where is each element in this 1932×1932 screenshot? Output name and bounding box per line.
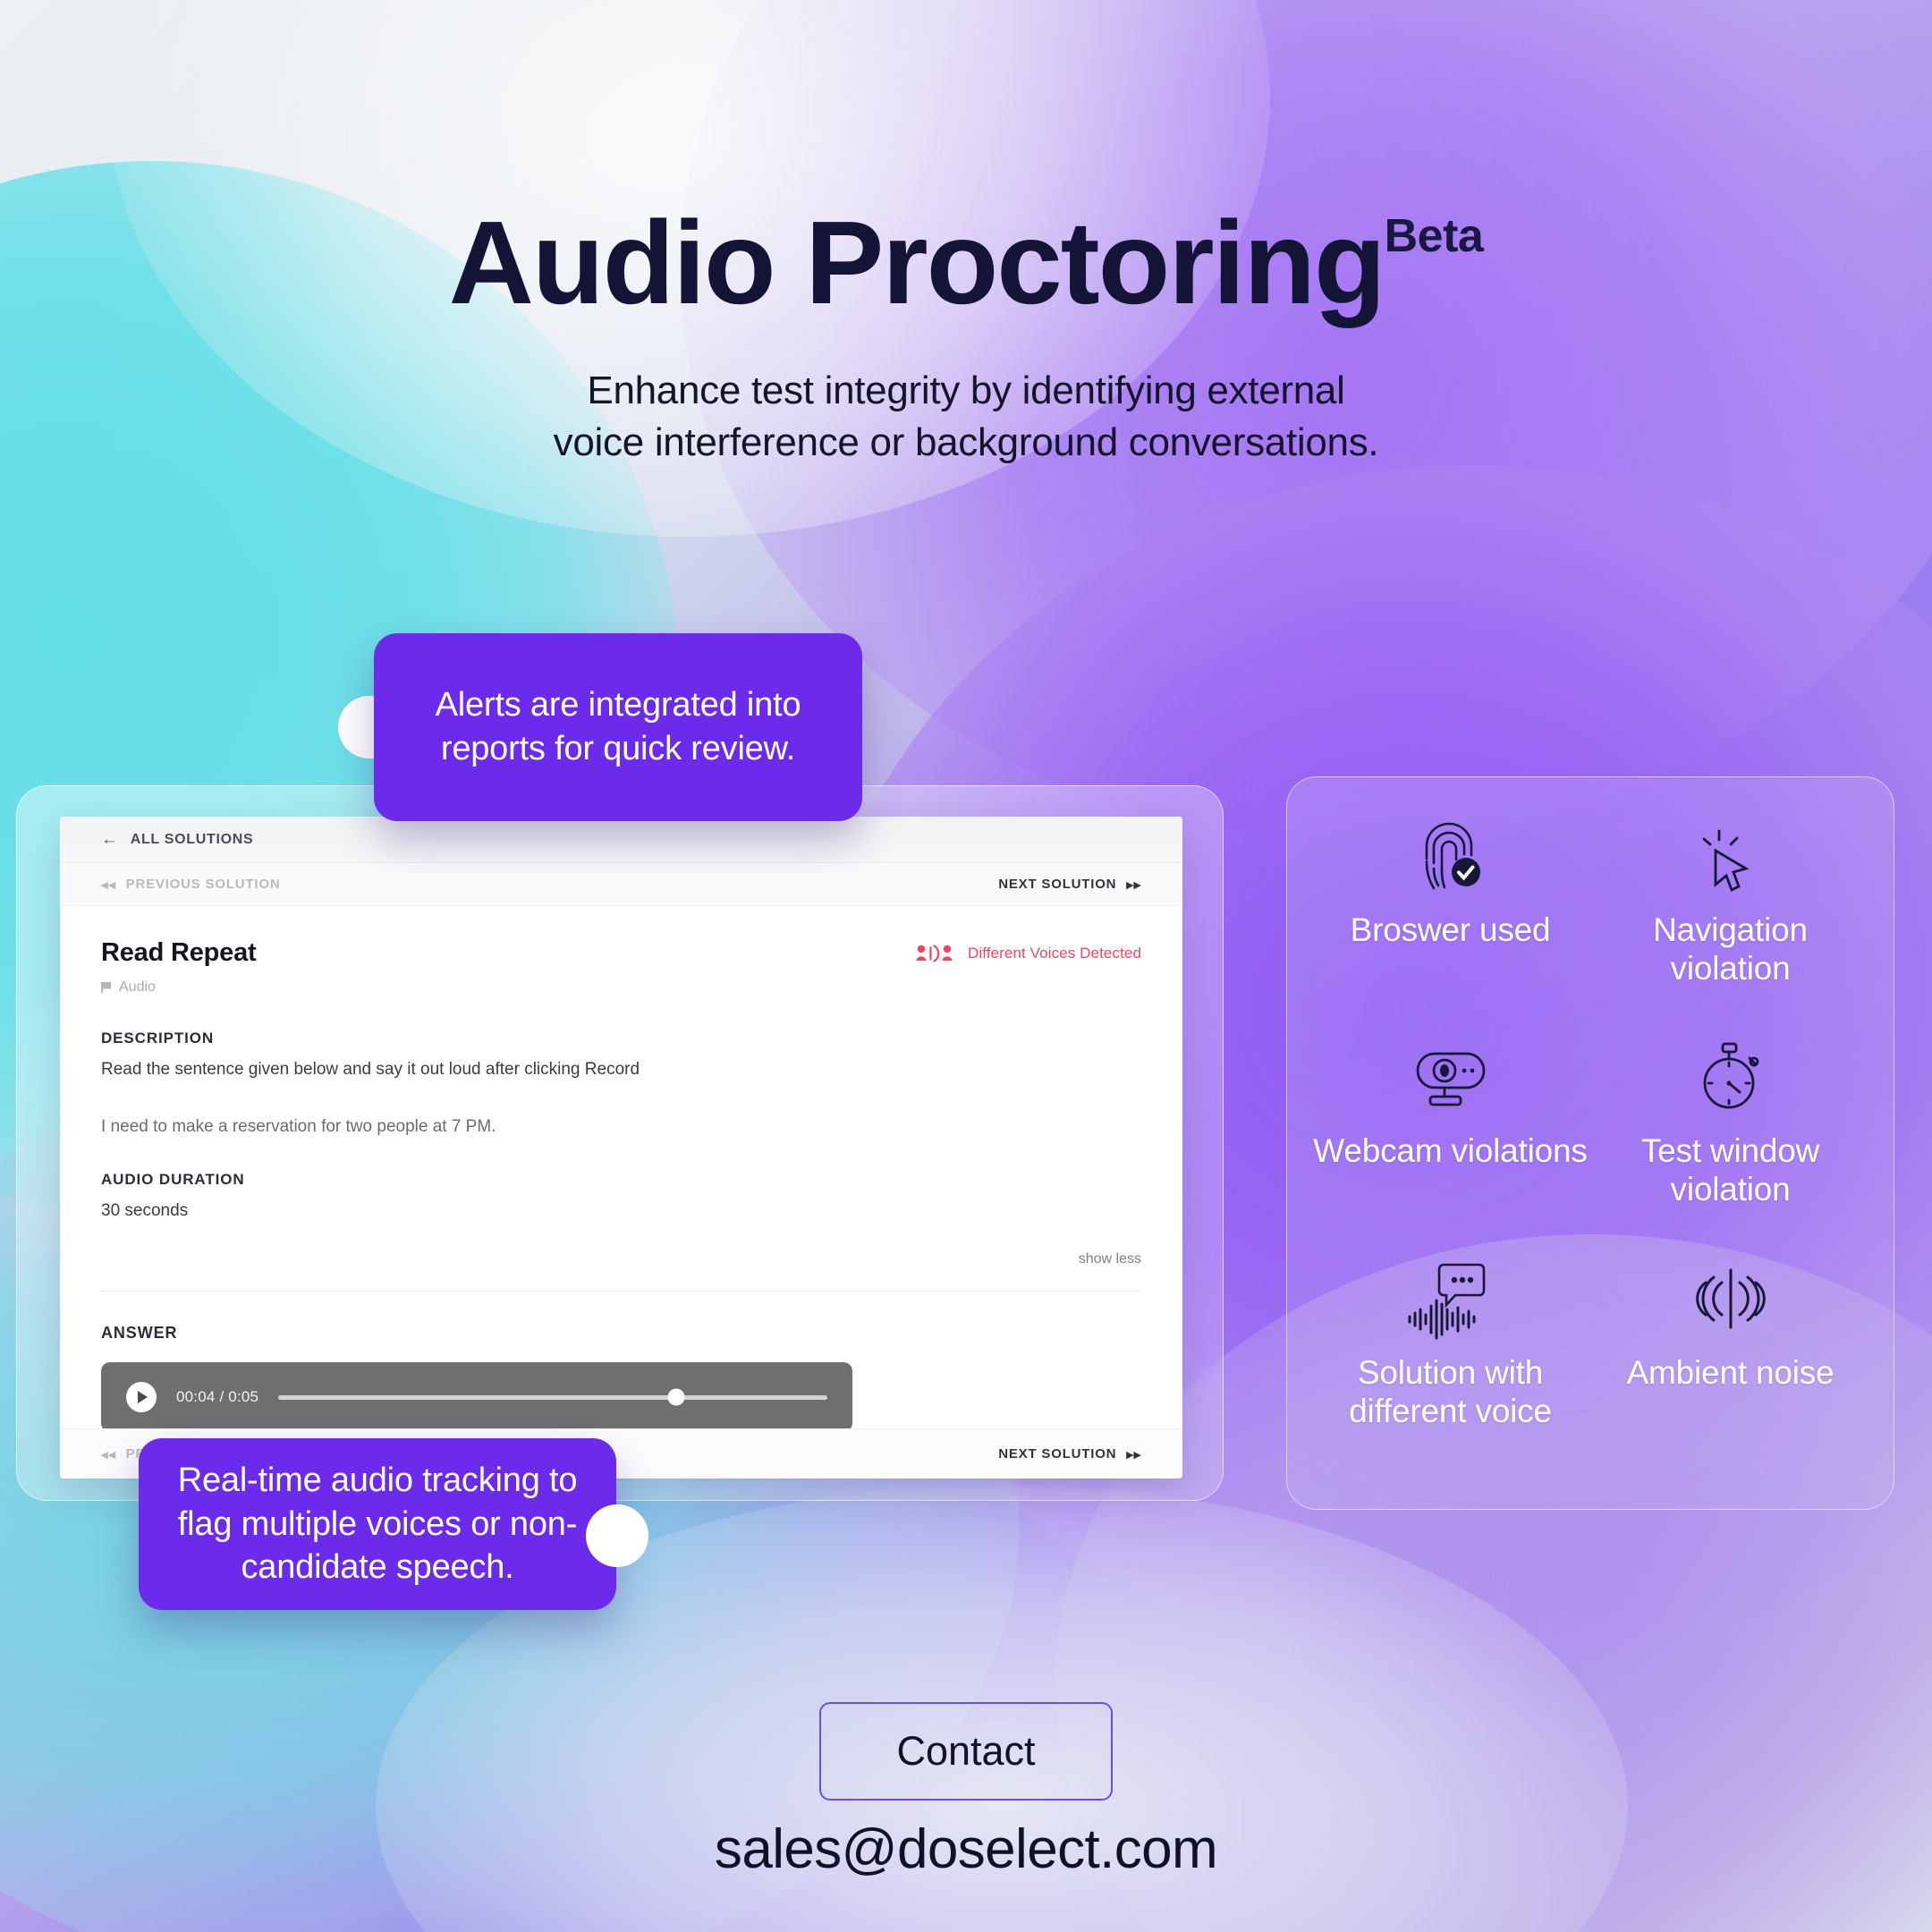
double-left-chevron-icon: ◂◂ [101,1446,116,1462]
violation-label: Navigation violation [1590,911,1870,988]
breadcrumb-label: ALL SOLUTIONS [131,832,254,848]
page-subtitle: Enhance test integrity by identifying ex… [0,365,1932,469]
speech-waveform-icon [1404,1256,1497,1342]
description-text: Read the sentence given below and say it… [101,1060,1141,1080]
violation-label: Broswer used [1351,911,1551,950]
header: Audio Proctoring Beta Enhance test integ… [0,204,1932,469]
previous-solution-button[interactable]: ◂◂ PREVIOUS SOLUTION [101,877,280,893]
cursor-click-icon [1692,813,1769,899]
contact-button[interactable]: Contact [819,1702,1113,1801]
app-topbar: ← ALL SOLUTIONS [60,817,1182,863]
question-tag: Audio [101,979,256,996]
play-button[interactable] [126,1382,157,1412]
violation-item-test-window: Test window violation [1590,1034,1870,1255]
footer-next-solution-label: NEXT SOLUTION [998,1446,1116,1462]
sound-waves-icon [1692,1256,1769,1342]
play-icon [138,1391,148,1403]
player-knob[interactable] [668,1389,685,1406]
double-left-chevron-icon: ◂◂ [101,877,116,893]
app-screenshot: ← ALL SOLUTIONS ◂◂ PREVIOUS SOLUTION NEX… [60,817,1182,1479]
callout-bottom: Real-time audio tracking to flag multipl… [139,1438,616,1610]
flag-icon [101,982,111,993]
question-header-row: Read Repeat Audio [101,938,1141,996]
breadcrumb[interactable]: ← ALL SOLUTIONS [101,831,253,848]
subtitle-line-1: Enhance test integrity by identifying ex… [0,365,1932,417]
violation-item-different-voice: Solution with different voice [1310,1256,1590,1477]
callout-bottom-dot [586,1504,648,1567]
audio-duration-value: 30 seconds [101,1201,1141,1221]
audio-player[interactable]: 00:04 / 0:05 [101,1362,852,1432]
title-row: Audio Proctoring Beta [449,204,1484,322]
violation-item-browser-used: Broswer used [1310,813,1590,1034]
status-badge: Different Voices Detected [916,944,1141,963]
poster-canvas: Audio Proctoring Beta Enhance test integ… [0,0,1932,1932]
description-label: DESCRIPTION [101,1030,1141,1047]
question-meta: Read Repeat Audio [101,938,256,996]
callout-bottom-text: Real-time audio tracking to flag multipl… [139,1439,616,1609]
previous-solution-label: PREVIOUS SOLUTION [126,877,281,892]
back-arrow-icon: ← [101,831,119,848]
sentence-text: I need to make a reservation for two peo… [101,1117,1141,1137]
violation-label: Solution with different voice [1310,1354,1590,1431]
different-voices-icon [916,944,955,963]
violation-item-ambient-noise: Ambient noise [1590,1256,1870,1477]
violation-label: Test window violation [1590,1132,1870,1209]
stopwatch-icon [1693,1034,1768,1120]
subtitle-line-2: voice interference or background convers… [0,417,1932,469]
app-solution-nav: ◂◂ PREVIOUS SOLUTION NEXT SOLUTION ▸▸ [60,863,1182,906]
violation-label: Webcam violations [1313,1132,1587,1171]
violation-item-webcam: Webcam violations [1310,1034,1590,1255]
fingerprint-check-icon [1412,813,1489,899]
violation-item-navigation: Navigation violation [1590,813,1870,1034]
webcam-icon [1409,1034,1493,1120]
beta-badge: Beta [1385,209,1484,263]
callout-top-text: Alerts are integrated into reports for q… [374,657,862,797]
player-scrubber[interactable] [278,1395,827,1400]
answer-label: ANSWER [101,1324,1141,1343]
section-divider [101,1291,1141,1292]
contact-email[interactable]: sales@doselect.com [0,1818,1932,1881]
footer-next-solution-button[interactable]: NEXT SOLUTION ▸▸ [998,1446,1141,1462]
audio-duration-label: AUDIO DURATION [101,1171,1141,1189]
callout-top: Alerts are integrated into reports for q… [374,633,862,821]
screenshot-glass-panel: ← ALL SOLUTIONS ◂◂ PREVIOUS SOLUTION NEX… [16,785,1224,1501]
page-title: Audio Proctoring [449,204,1385,322]
next-solution-label: NEXT SOLUTION [998,877,1116,892]
next-solution-button[interactable]: NEXT SOLUTION ▸▸ [998,877,1141,893]
violation-label: Ambient noise [1627,1354,1835,1393]
question-tag-label: Audio [119,979,156,996]
question-title: Read Repeat [101,938,256,968]
status-badge-label: Different Voices Detected [968,945,1141,962]
player-time: 00:04 / 0:05 [176,1388,258,1406]
double-right-chevron-icon: ▸▸ [1126,877,1141,893]
double-right-chevron-icon: ▸▸ [1126,1446,1141,1462]
show-less-link[interactable]: show less [101,1251,1141,1267]
app-body: Read Repeat Audio [60,906,1182,1432]
violations-panel: Broswer used Navigation violation [1286,776,1894,1510]
